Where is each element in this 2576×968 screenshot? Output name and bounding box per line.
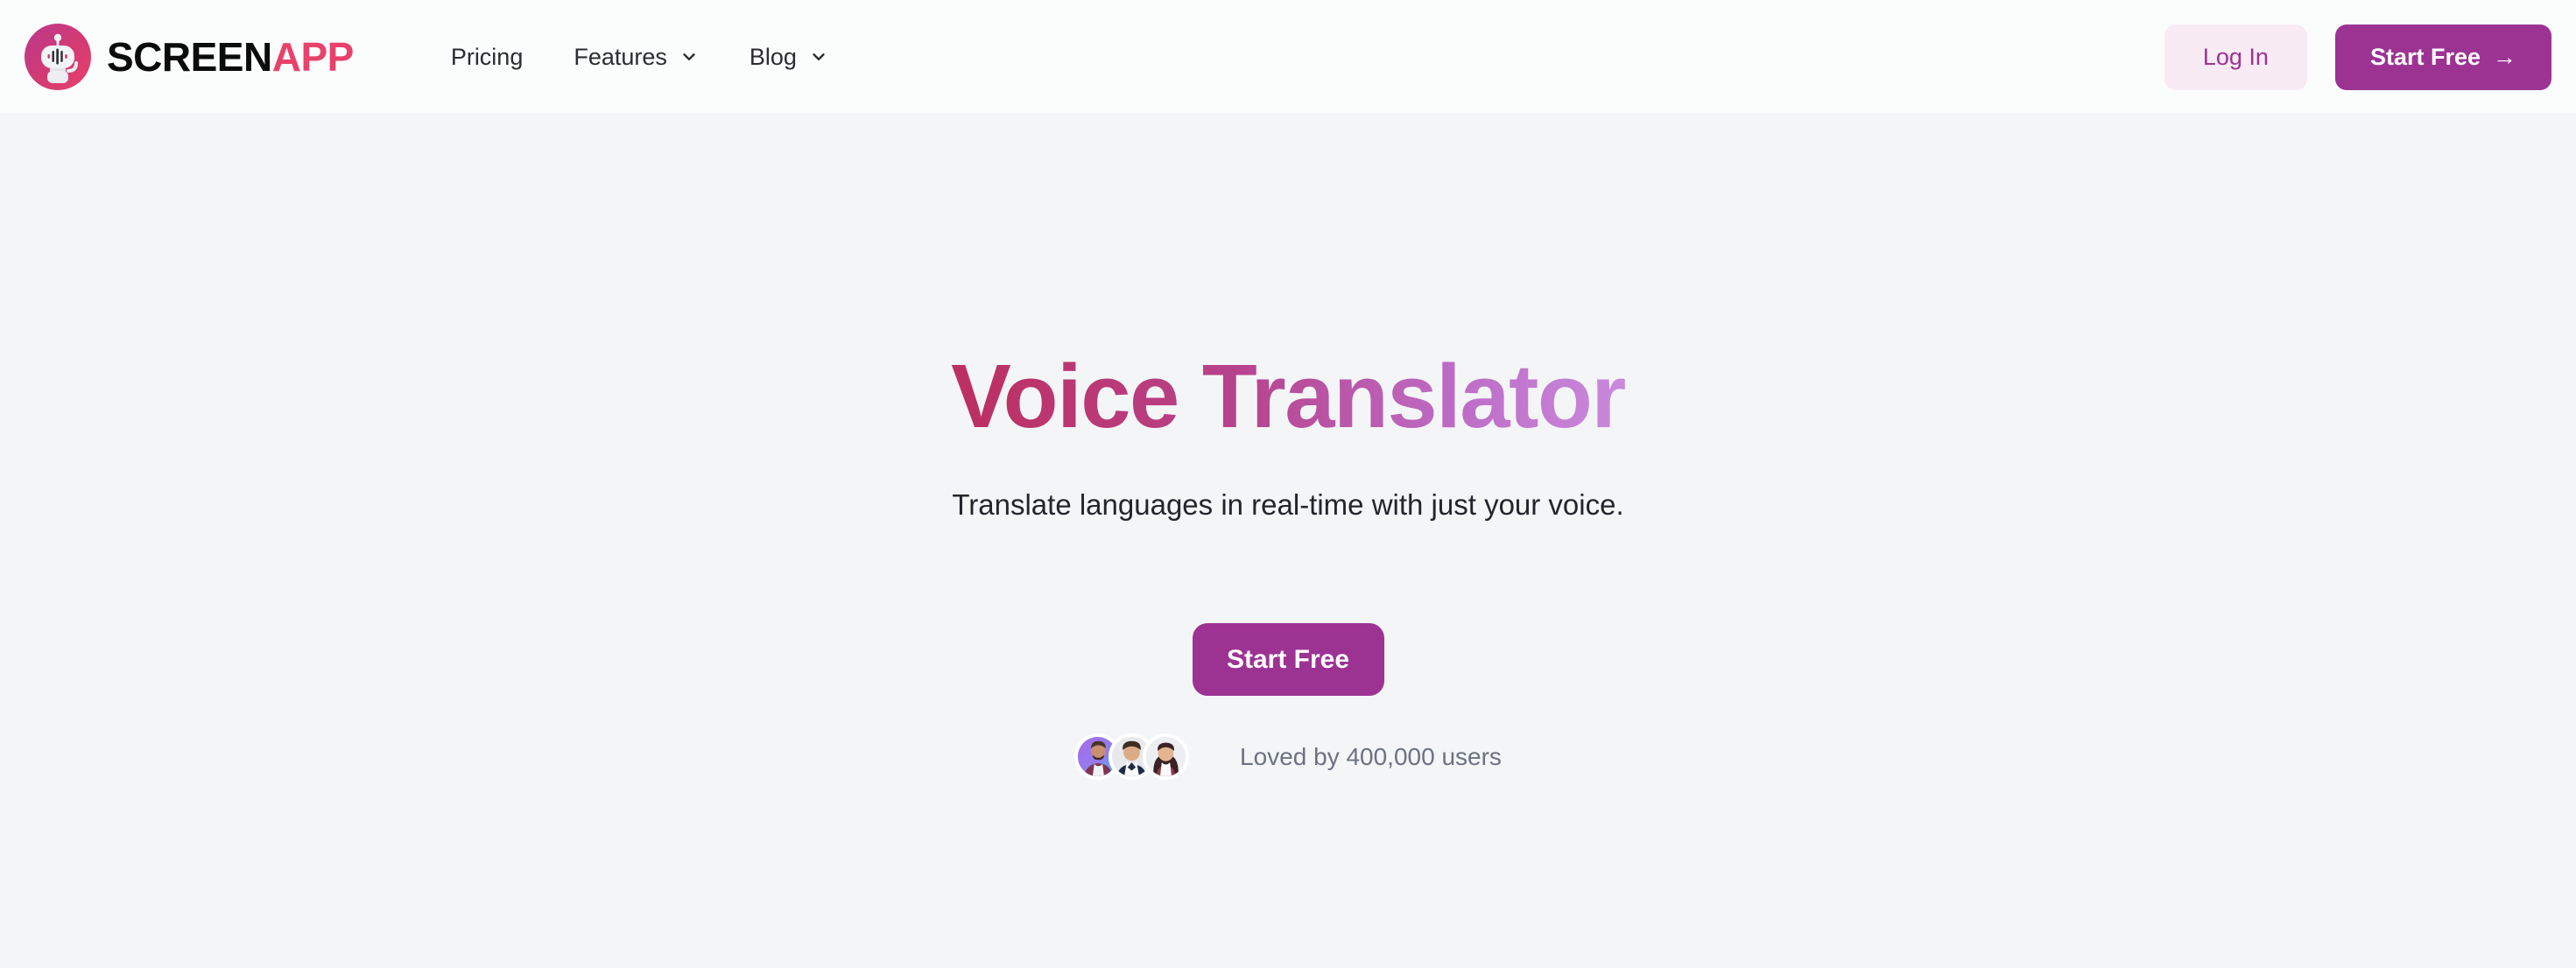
hero-subtitle: Translate languages in real-time with ju… xyxy=(952,485,1623,525)
nav-item-pricing[interactable]: Pricing xyxy=(426,35,549,80)
wordmark-screen: SCREEN xyxy=(107,34,272,80)
nav-item-pricing-label: Pricing xyxy=(451,44,524,71)
start-free-header-label: Start Free xyxy=(2370,25,2481,90)
social-proof-text: Loved by 400,000 users xyxy=(1240,743,1502,771)
header-actions: Log In Start Free → xyxy=(2164,25,2551,90)
avatar-group xyxy=(1074,733,1189,780)
start-free-header-button[interactable]: Start Free → xyxy=(2335,25,2551,90)
site-header: SCREENAPP Pricing Features Blog Log In S… xyxy=(0,0,2576,115)
nav-item-features[interactable]: Features xyxy=(548,35,724,80)
login-button[interactable]: Log In xyxy=(2164,25,2307,90)
main-navigation: Pricing Features Blog xyxy=(426,35,854,80)
chevron-down-icon xyxy=(679,47,699,67)
chevron-down-icon xyxy=(809,47,828,67)
avatar-user-3 xyxy=(1143,733,1189,780)
page-title: Voice Translator xyxy=(951,349,1625,444)
nav-item-blog[interactable]: Blog xyxy=(724,35,854,80)
brand-wordmark: SCREENAPP xyxy=(107,37,354,77)
hero-section: Voice Translator Translate languages in … xyxy=(0,115,2576,968)
arrow-right-icon: → xyxy=(2493,46,2516,69)
brand-logo-link[interactable]: SCREENAPP xyxy=(25,24,354,90)
start-free-hero-button[interactable]: Start Free xyxy=(1193,623,1384,696)
screenapp-robot-logo-icon xyxy=(25,24,91,90)
wordmark-app: APP xyxy=(272,34,354,80)
nav-item-blog-label: Blog xyxy=(750,44,797,71)
social-proof: Loved by 400,000 users xyxy=(1074,733,1502,780)
nav-item-features-label: Features xyxy=(574,44,667,71)
